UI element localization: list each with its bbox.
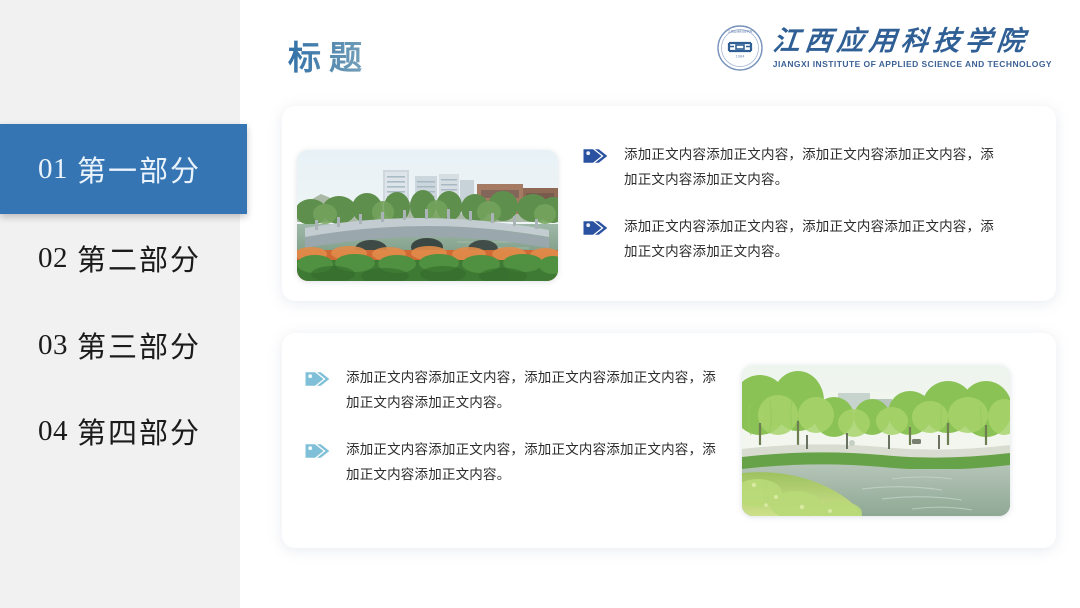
svg-text:1984: 1984 bbox=[735, 54, 745, 59]
sidebar-item-1-number: 01 bbox=[38, 153, 68, 186]
sidebar-item-2-label: 第二部分 bbox=[77, 237, 201, 279]
sidebar-item-3-number: 03 bbox=[38, 329, 68, 362]
sidebar-item-4[interactable]: 04 第四部分 bbox=[0, 409, 240, 453]
campus-stone-bridge-photo bbox=[297, 150, 558, 281]
sidebar-item-2-number: 02 bbox=[38, 242, 68, 275]
slide-canvas: 01 第一部分 02 第二部分 03 第三部分 04 第四部分 标题 1984 bbox=[0, 0, 1080, 608]
sidebar: 01 第一部分 02 第二部分 03 第三部分 04 第四部分 bbox=[0, 0, 240, 608]
bullet-text: 添加正文内容添加正文内容，添加正文内容添加正文内容，添加正文内容添加正文内容。 bbox=[346, 365, 724, 415]
bullet-item: 添加正文内容添加正文内容，添加正文内容添加正文内容，添加正文内容添加正文内容。 bbox=[304, 437, 724, 487]
bullet-item: 添加正文内容添加正文内容，添加正文内容添加正文内容，添加正文内容添加正文内容。 bbox=[582, 142, 1002, 192]
content-card-bottom: 添加正文内容添加正文内容，添加正文内容添加正文内容，添加正文内容添加正文内容。 … bbox=[282, 333, 1056, 548]
tag-icon bbox=[582, 218, 610, 238]
campus-lakeside-photo bbox=[742, 365, 1010, 516]
logo-wordmark: 江西应用科技学院 JIANGXI INSTITUTE OF APPLIED SC… bbox=[773, 27, 1052, 68]
university-logo: 1984 江西应用科技学院 江西应用科技学院 JIANGXI INSTITUTE… bbox=[716, 24, 1052, 72]
page-title: 标题 bbox=[288, 31, 370, 79]
university-seal-icon: 1984 江西应用科技学院 bbox=[716, 24, 764, 72]
svg-text:江西应用科技学院: 江西应用科技学院 bbox=[727, 29, 752, 34]
sidebar-item-4-label: 第四部分 bbox=[77, 410, 201, 452]
bullet-text: 添加正文内容添加正文内容，添加正文内容添加正文内容，添加正文内容添加正文内容。 bbox=[624, 214, 1002, 264]
tag-icon bbox=[304, 441, 332, 461]
logo-name-en: JIANGXI INSTITUTE OF APPLIED SCIENCE AND… bbox=[773, 59, 1052, 69]
logo-name-cn: 江西应用科技学院 bbox=[771, 27, 1030, 55]
sidebar-item-3-label: 第三部分 bbox=[77, 324, 201, 366]
tag-icon bbox=[582, 146, 610, 166]
sidebar-item-1-label: 第一部分 bbox=[77, 148, 201, 190]
sidebar-item-2[interactable]: 02 第二部分 bbox=[0, 236, 240, 280]
bullet-item: 添加正文内容添加正文内容，添加正文内容添加正文内容，添加正文内容添加正文内容。 bbox=[304, 365, 724, 415]
bullet-text: 添加正文内容添加正文内容，添加正文内容添加正文内容，添加正文内容添加正文内容。 bbox=[624, 142, 1002, 192]
bullet-list-bottom: 添加正文内容添加正文内容，添加正文内容添加正文内容，添加正文内容添加正文内容。 … bbox=[304, 365, 724, 487]
sidebar-item-3[interactable]: 03 第三部分 bbox=[0, 323, 240, 367]
sidebar-item-1[interactable]: 01 第一部分 bbox=[0, 124, 247, 214]
bullet-text: 添加正文内容添加正文内容，添加正文内容添加正文内容，添加正文内容添加正文内容。 bbox=[346, 437, 724, 487]
content-card-top: 添加正文内容添加正文内容，添加正文内容添加正文内容，添加正文内容添加正文内容。 … bbox=[282, 106, 1056, 301]
tag-icon bbox=[304, 369, 332, 389]
sidebar-item-4-number: 04 bbox=[38, 415, 68, 448]
bullet-list-top: 添加正文内容添加正文内容，添加正文内容添加正文内容，添加正文内容添加正文内容。 … bbox=[582, 142, 1002, 264]
bullet-item: 添加正文内容添加正文内容，添加正文内容添加正文内容，添加正文内容添加正文内容。 bbox=[582, 214, 1002, 264]
